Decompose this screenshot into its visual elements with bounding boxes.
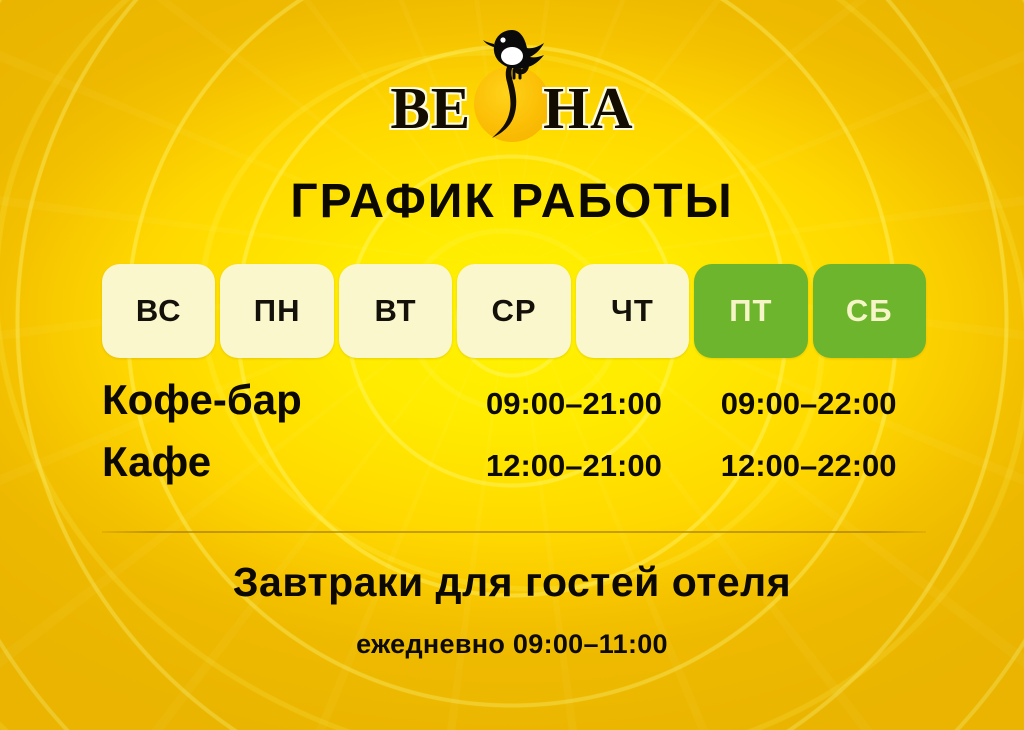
- breakfast-subheading: ежедневно 09:00–11:00: [0, 631, 1024, 658]
- hours-coffee-bar-weekday: 09:00–21:00: [457, 386, 692, 422]
- table-row: Кафе 12:00–21:00 12:00–22:00: [102, 438, 926, 500]
- day-chip-cht[interactable]: ЧТ: [576, 264, 689, 358]
- day-chips-row: ВС ПН ВТ СР ЧТ ПТ СБ: [102, 264, 926, 358]
- day-chip-sr[interactable]: СР: [457, 264, 570, 358]
- day-chip-vs[interactable]: ВС: [102, 264, 215, 358]
- logo-text-left: ВЕ: [390, 79, 471, 138]
- section-divider: [102, 531, 926, 533]
- brand-logo: ВЕ НА: [0, 30, 1024, 142]
- day-chip-vt[interactable]: ВТ: [339, 264, 452, 358]
- breakfast-heading: Завтраки для гостей отеля: [0, 562, 1024, 603]
- page-title: ГРАФИК РАБОТЫ: [0, 178, 1024, 226]
- hours-cafe-weekday: 12:00–21:00: [457, 448, 692, 484]
- venue-name-coffee-bar: Кофе-бар: [102, 376, 457, 424]
- logo-text-right: НА: [543, 79, 634, 138]
- schedule-poster: ВЕ НА ГРАФИК РАБОТЫ ВС ПН ВТ СР ЧТ ПТ СБ…: [0, 0, 1024, 730]
- hours-cafe-weekend: 12:00–22:00: [691, 448, 926, 484]
- day-chip-pt[interactable]: ПТ: [694, 264, 807, 358]
- day-chip-pn[interactable]: ПН: [220, 264, 333, 358]
- day-chip-sb[interactable]: СБ: [813, 264, 926, 358]
- schedule-table: Кофе-бар 09:00–21:00 09:00–22:00 Кафе 12…: [102, 376, 926, 500]
- venue-name-cafe: Кафе: [102, 438, 457, 486]
- table-row: Кофе-бар 09:00–21:00 09:00–22:00: [102, 376, 926, 438]
- hours-coffee-bar-weekend: 09:00–22:00: [691, 386, 926, 422]
